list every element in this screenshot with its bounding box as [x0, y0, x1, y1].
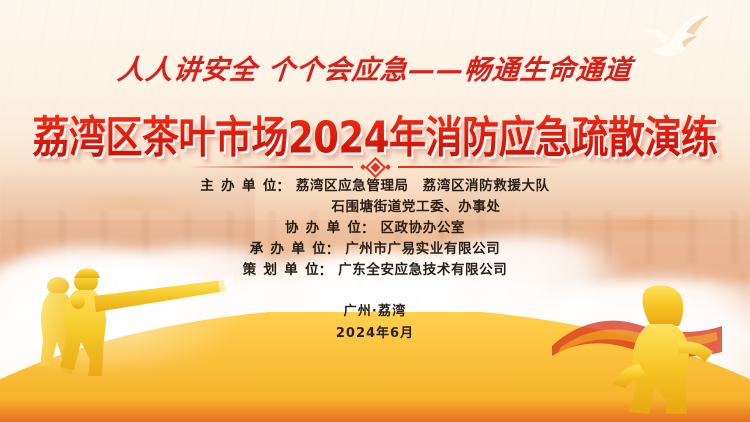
organizer-row: 策划单位 ： 广东全安应急技术有限公司 — [243, 260, 508, 281]
organizer-label: 协办单位 — [285, 218, 361, 239]
organizer-colon: ： — [361, 218, 375, 239]
organizer-colon: ： — [276, 176, 290, 197]
organizer-colon: ： — [326, 239, 340, 260]
poster-canvas: 人人讲安全 个个会应急——畅通生命通道 荔湾区茶叶市场2024年消防应急疏散演练… — [0, 0, 750, 422]
organizer-label: 策划单位 — [243, 260, 319, 281]
organizer-row-continuation: 石围塘街道党工委、办事处 — [331, 197, 500, 218]
poster-content: 人人讲安全 个个会应急——畅通生命通道 荔湾区茶叶市场2024年消防应急疏散演练… — [0, 0, 750, 422]
organizer-value: 广州市广易实业有限公司 — [345, 239, 500, 260]
divider-line-left — [188, 166, 353, 168]
organizer-row: 承办单位 ： 广州市广易实业有限公司 — [250, 239, 501, 260]
organizer-value: 广东全安应急技术有限公司 — [338, 260, 507, 281]
event-date: 2024年6月 — [0, 322, 750, 341]
organizer-value: 荔湾区应急管理局 荔湾区消防救援大队 — [296, 176, 550, 197]
organizer-colon: ： — [319, 260, 333, 281]
organizer-value-continuation: 石围塘街道党工委、办事处 — [331, 197, 500, 218]
organizer-value: 区政协办公室 — [380, 218, 465, 239]
organizer-list: 主办单位 ： 荔湾区应急管理局 荔湾区消防救援大队 石围塘街道党工委、办事处 协… — [0, 176, 750, 281]
organizer-label: 主办单位 — [200, 176, 276, 197]
divider-line-right — [398, 166, 563, 168]
poster-slogan: 人人讲安全 个个会应急——畅通生命通道 — [0, 48, 750, 87]
decorative-divider — [0, 158, 750, 176]
organizer-label: 承办单位 — [250, 239, 326, 260]
organizer-row: 主办单位 ： 荔湾区应急管理局 荔湾区消防救援大队 — [200, 176, 549, 197]
event-location: 广州·荔湾 — [0, 300, 750, 319]
organizer-row: 协办单位 ： 区政协办公室 — [285, 218, 465, 239]
diamond-ornament-icon — [361, 160, 390, 175]
